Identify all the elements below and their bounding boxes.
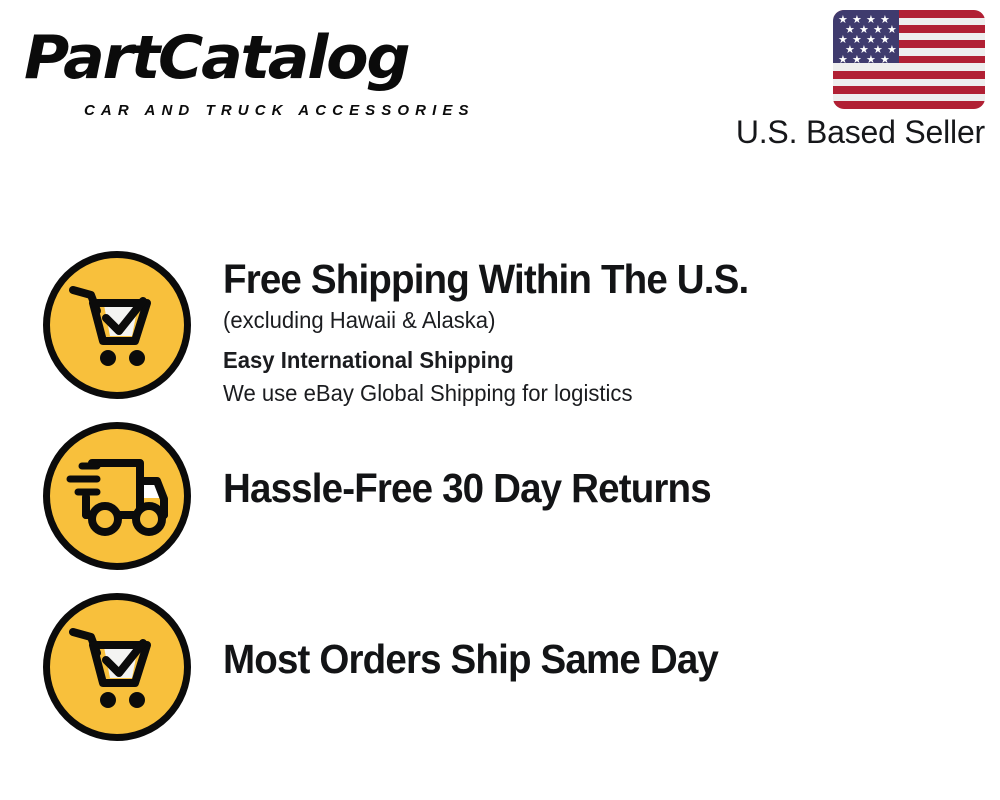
feature-subline-exclusions: (excluding Hawaii & Alaska) bbox=[223, 304, 969, 336]
delivery-truck-icon bbox=[43, 422, 191, 570]
feature-row: Hassle-Free 30 Day Returns bbox=[0, 422, 1000, 570]
flag-canton: ★ ★ ★ ★ ★ ★ ★ ★ ★ ★ ★ ★ ★ ★ ★ ★ ★ ★ ★ ★ bbox=[833, 10, 899, 63]
feature-row: Free Shipping Within The U.S. (excluding… bbox=[0, 251, 1000, 409]
shopping-cart-check-icon bbox=[43, 251, 191, 399]
brand-logo[interactable]: PartCatalog CAR AND TRUCK ACCESSORIES bbox=[24, 22, 494, 112]
brand-wordmark: PartCatalog bbox=[24, 22, 408, 94]
feature-text: Hassle-Free 30 Day Returns bbox=[223, 422, 1000, 512]
feature-headline: Hassle-Free 30 Day Returns bbox=[223, 464, 953, 512]
us-based-seller-label: U.S. Based Seller bbox=[710, 113, 985, 151]
flag-star: ★ bbox=[852, 54, 862, 65]
feature-headline: Most Orders Ship Same Day bbox=[223, 635, 953, 683]
brand-tagline: CAR AND TRUCK ACCESSORIES bbox=[84, 102, 475, 119]
flag-star: ★ bbox=[880, 54, 890, 65]
flag-star: ★ bbox=[866, 54, 876, 65]
page-header: PartCatalog CAR AND TRUCK ACCESSORIES ★ … bbox=[0, 0, 1000, 175]
us-flag-icon: ★ ★ ★ ★ ★ ★ ★ ★ ★ ★ ★ ★ ★ ★ ★ ★ ★ ★ ★ ★ bbox=[833, 10, 985, 109]
flag-stripe bbox=[833, 79, 985, 87]
us-based-seller-badge: ★ ★ ★ ★ ★ ★ ★ ★ ★ ★ ★ ★ ★ ★ ★ ★ ★ ★ ★ ★ bbox=[710, 10, 985, 151]
shopping-cart-check-icon bbox=[43, 593, 191, 741]
flag-stripe bbox=[833, 71, 985, 79]
feature-headline: Free Shipping Within The U.S. bbox=[223, 255, 953, 303]
flag-stripe bbox=[833, 86, 985, 94]
flag-stripe bbox=[833, 94, 985, 102]
feature-subline-international-title: Easy International Shipping bbox=[223, 344, 969, 376]
feature-text: Most Orders Ship Same Day bbox=[223, 593, 1000, 683]
flag-stripe bbox=[833, 101, 985, 109]
feature-subline-international-detail: We use eBay Global Shipping for logistic… bbox=[223, 377, 969, 409]
feature-row: Most Orders Ship Same Day bbox=[0, 593, 1000, 741]
feature-text: Free Shipping Within The U.S. (excluding… bbox=[223, 251, 1000, 409]
flag-star: ★ bbox=[838, 54, 848, 65]
